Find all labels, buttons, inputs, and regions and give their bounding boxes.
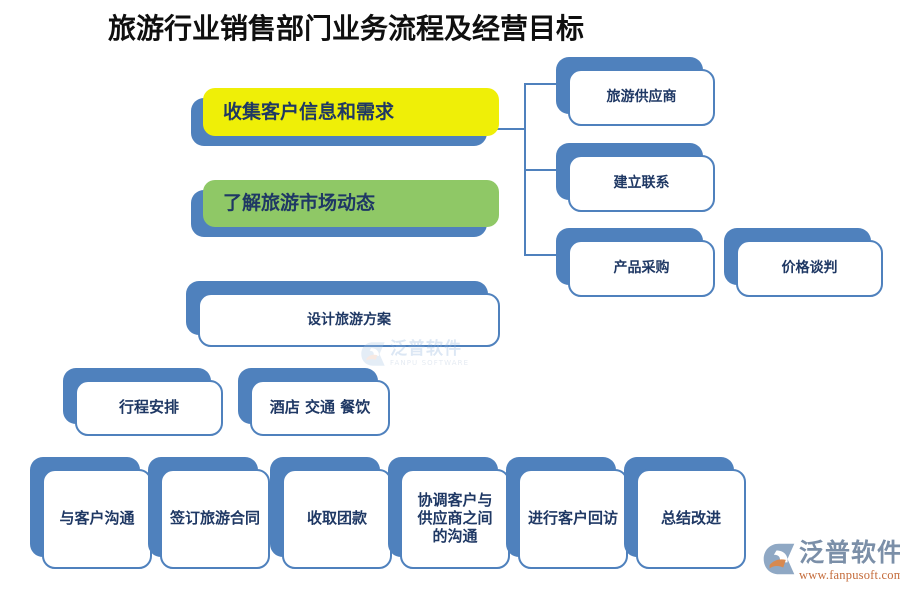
node-label: 进行客户回访	[518, 469, 628, 569]
node-sign-travel-contract[interactable]: 签订旅游合同	[148, 457, 258, 557]
connector-branch-suppliers	[524, 83, 557, 85]
node-itinerary-arrangement[interactable]: 行程安排	[63, 368, 211, 424]
node-label: 协调客户与 供应商之间 的沟通	[400, 469, 510, 569]
node-label: 收集客户信息和需求	[203, 88, 499, 136]
node-communicate-with-customer[interactable]: 与客户沟通	[30, 457, 140, 557]
logo-url: www.fanpusoft.com	[799, 568, 900, 583]
node-price-negotiation[interactable]: 价格谈判	[724, 228, 871, 285]
node-label: 酒店 交通 餐饮	[250, 380, 390, 436]
node-hotel-transport-food[interactable]: 酒店 交通 餐饮	[238, 368, 378, 424]
node-design-travel-plan[interactable]: 设计旅游方案	[186, 281, 488, 335]
node-build-contact[interactable]: 建立联系	[556, 143, 703, 200]
node-label: 行程安排	[75, 380, 223, 436]
node-coordinate-communication[interactable]: 协调客户与 供应商之间 的沟通	[388, 457, 498, 557]
node-collect-customer-info[interactable]: 收集客户信息和需求	[191, 98, 487, 146]
logo-text: 泛普软件 www.fanpusoft.com	[799, 540, 900, 583]
node-product-purchase[interactable]: 产品采购	[556, 228, 703, 285]
connector-trunk-stem	[495, 128, 526, 130]
flowchart-canvas: 旅游行业销售部门业务流程及经营目标 收集客户信息和需求 了解旅游市场动态 旅游供…	[0, 0, 900, 600]
fanpu-logo-icon	[762, 542, 796, 576]
watermark-name-en: FANPU SOFTWARE	[390, 360, 469, 367]
node-label: 价格谈判	[736, 240, 883, 297]
node-summary-improve[interactable]: 总结改进	[624, 457, 734, 557]
node-travel-suppliers[interactable]: 旅游供应商	[556, 57, 703, 114]
connector-branch-build-contact	[524, 169, 557, 171]
node-label: 总结改进	[636, 469, 746, 569]
node-label: 与客户沟通	[42, 469, 152, 569]
node-customer-followup[interactable]: 进行客户回访	[506, 457, 616, 557]
page-title: 旅游行业销售部门业务流程及经营目标	[108, 12, 584, 46]
node-label: 旅游供应商	[568, 69, 715, 126]
node-label: 产品采购	[568, 240, 715, 297]
node-label: 设计旅游方案	[198, 293, 500, 347]
fanpu-logo: 泛普软件 www.fanpusoft.com	[762, 540, 900, 583]
node-label: 签订旅游合同	[160, 469, 270, 569]
logo-name: 泛普软件	[799, 540, 900, 565]
node-market-trend[interactable]: 了解旅游市场动态	[191, 190, 487, 237]
node-label: 了解旅游市场动态	[203, 180, 499, 227]
node-collect-payment[interactable]: 收取团款	[270, 457, 380, 557]
node-label: 收取团款	[282, 469, 392, 569]
connector-branch-product-purchase	[524, 254, 557, 256]
node-label: 建立联系	[568, 155, 715, 212]
